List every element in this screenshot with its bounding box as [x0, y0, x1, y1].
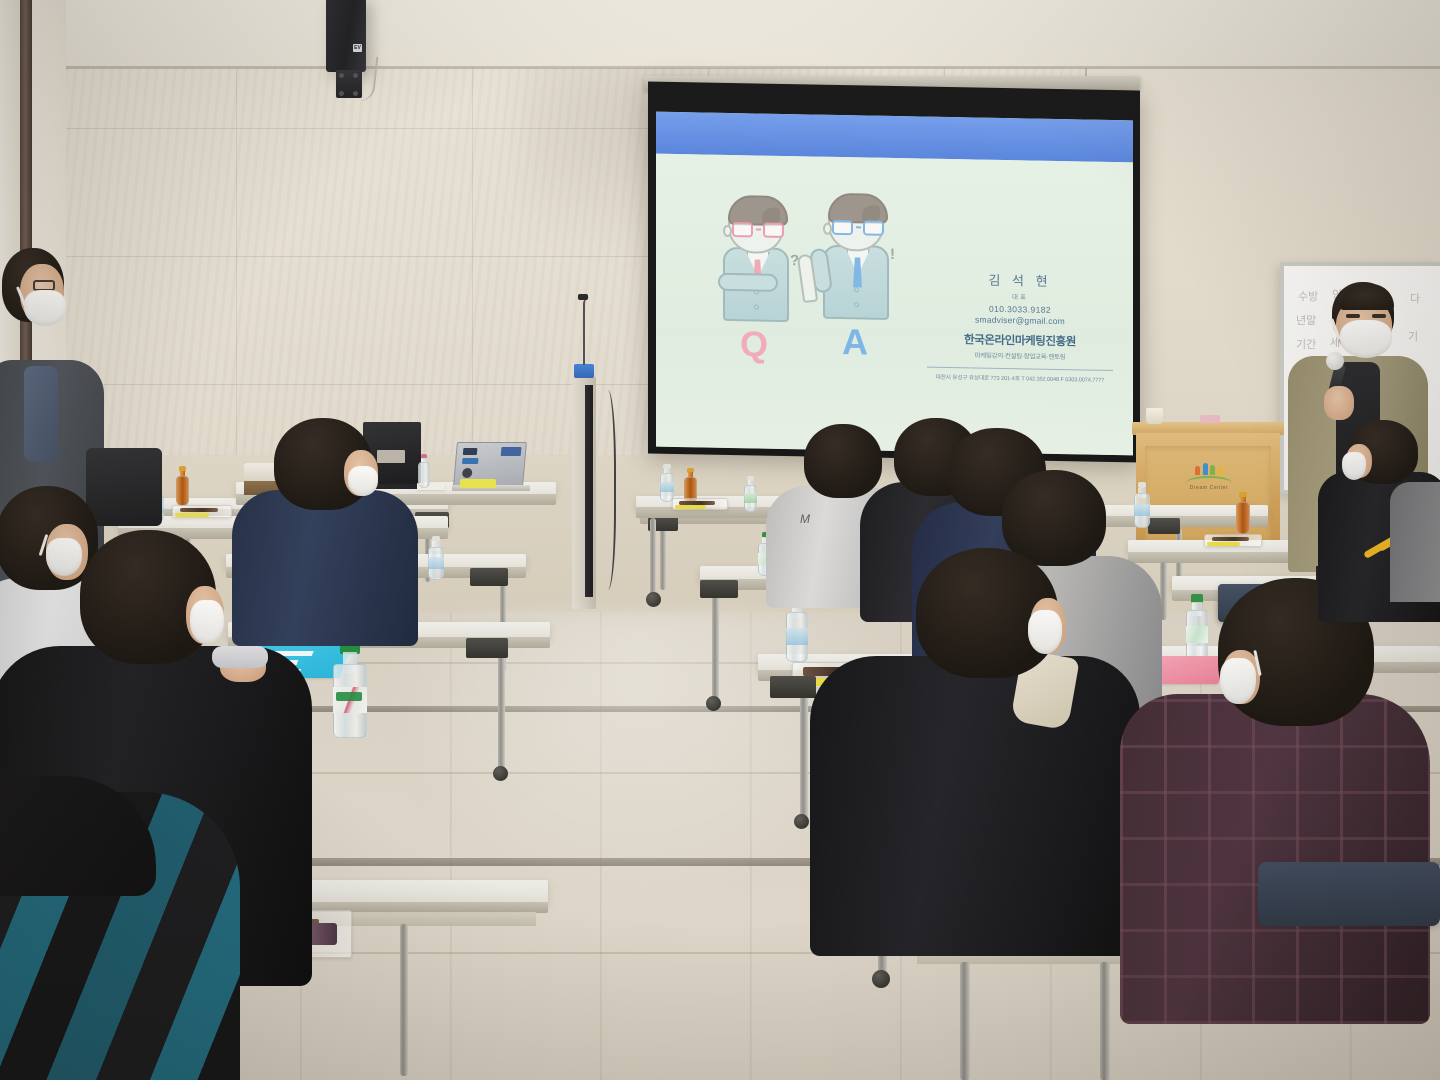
- cider-bottle[interactable]: [1186, 594, 1208, 660]
- table-bracket: [1148, 518, 1180, 534]
- seminar-room-photo: EV: [0, 0, 1440, 1080]
- contact-organization: 한국온라인마케팅진흥원: [925, 331, 1115, 350]
- bottle-label: [428, 557, 444, 568]
- pink-item-on-podium: [1200, 415, 1220, 423]
- a2-face-mask: [190, 600, 224, 644]
- q-figure-glasses: [732, 221, 784, 238]
- contact-name: 김 석 현: [925, 269, 1115, 291]
- table-bracket: [700, 580, 738, 598]
- a-figure-button-1: [854, 287, 859, 292]
- table-bracket: [770, 676, 816, 698]
- contact-organization-subtitle: 마케팅강의·컨설팅·창업교육·멘토링: [925, 349, 1115, 362]
- a10-plaid-shirt: [1120, 694, 1430, 1024]
- a-figure-head: [828, 197, 884, 252]
- podium-logo: Dream Center: [1178, 462, 1240, 491]
- snack-pack[interactable]: [672, 498, 728, 510]
- snack-pack[interactable]: [172, 505, 232, 518]
- a-figure-button-2: [854, 302, 859, 307]
- exclaim-mark: !: [890, 246, 895, 263]
- a9-face-mask: [1028, 610, 1062, 654]
- whiteboard-text-7: 다: [1410, 290, 1420, 306]
- q-figure-crossed-arms: [718, 273, 778, 292]
- table-caster: [646, 592, 661, 607]
- cider-brand-mark: [336, 692, 362, 701]
- a8-head: [1002, 470, 1106, 566]
- tea-bottle[interactable]: [176, 466, 189, 506]
- water-bottle[interactable]: [744, 476, 757, 512]
- yellow-box: [460, 479, 496, 488]
- podium-logo-text: Dream Center: [1178, 485, 1240, 491]
- slide-contact-block: 김 석 현 대표 010.3033.9182 smadviser@gmail.c…: [925, 269, 1115, 384]
- a-figure-ear: [823, 223, 832, 235]
- paper-cup-on-podium: [1146, 408, 1163, 424]
- a-figure-lens-left: [832, 219, 853, 234]
- a9-coat: [810, 656, 1140, 956]
- a11-face-mask: [1342, 452, 1366, 480]
- table-leg: [660, 524, 666, 590]
- water-bottle[interactable]: [418, 454, 430, 488]
- table-leg: [400, 924, 408, 1076]
- table-leg: [650, 518, 656, 598]
- presenter-hand: [1324, 386, 1354, 420]
- bottle-body: [1236, 502, 1250, 534]
- table-edge: [1128, 552, 1304, 563]
- a4-face-mask: [348, 466, 378, 496]
- cider-bottle[interactable]: [333, 640, 367, 738]
- snack-dark-item: [1212, 537, 1249, 541]
- podium-logo-figures: [1178, 462, 1240, 475]
- ceiling: [0, 0, 1440, 68]
- contact-email: smadviser@gmail.com: [925, 314, 1115, 327]
- logo-figure-yellow: [1218, 467, 1223, 475]
- a10-face-mask: [1220, 658, 1256, 704]
- table-bracket: [470, 568, 508, 586]
- table-caster: [493, 766, 508, 781]
- whiteboard-text-5: 기간: [1296, 336, 1316, 352]
- q-figure-button-2: [754, 304, 759, 309]
- bottle-body: [418, 462, 430, 488]
- contact-divider: [927, 367, 1113, 371]
- presenter-eye-pair: [1346, 314, 1360, 318]
- water-bottle[interactable]: [660, 464, 674, 502]
- chair-back-front-right[interactable]: [1258, 862, 1440, 926]
- gooseneck-mic-stand: [583, 297, 590, 365]
- q-figure-ear: [723, 225, 732, 237]
- moderator-face-mask: [24, 290, 66, 326]
- a1-face-mask: [46, 538, 82, 576]
- snack-yellow-wrapper: [1207, 542, 1239, 546]
- moderator-bag: [86, 448, 162, 526]
- speaker-cable-loop: [596, 390, 616, 590]
- table-leg: [960, 962, 970, 1080]
- bottle-label: [1186, 626, 1208, 643]
- laptop-sticker-2: [462, 458, 479, 464]
- gooseneck-mic-head: [578, 294, 588, 300]
- contact-role: 대표: [925, 290, 1115, 303]
- table-leg: [498, 648, 505, 770]
- a4-sweater: [232, 490, 418, 646]
- podium-logo-arc: [1186, 476, 1232, 483]
- whiteboard-text-8: 기: [1408, 328, 1418, 344]
- bottle-label: [786, 628, 808, 645]
- letter-q: Q: [740, 323, 769, 366]
- bottle-label: [744, 493, 757, 502]
- laptop-sticker-1: [463, 448, 478, 455]
- snack-dark-item: [679, 501, 715, 505]
- logo-figure-orange: [1195, 466, 1200, 475]
- wall-speaker: EV: [326, 0, 366, 72]
- a-figure-lens-right: [863, 220, 884, 235]
- projected-slide: ? Q ! A: [656, 112, 1133, 456]
- table-caster: [794, 814, 809, 829]
- table-caster: [706, 696, 721, 711]
- floor-speaker-grille: [585, 385, 593, 597]
- logo-figure-green: [1210, 465, 1215, 475]
- monitor-label: [377, 450, 405, 463]
- a5-head: [804, 424, 882, 498]
- q-figure-lens-right: [763, 222, 784, 237]
- bottle-label: [333, 687, 367, 712]
- table-leg: [712, 590, 719, 700]
- table-bracket: [466, 638, 508, 658]
- logo-figure-blue: [1203, 463, 1208, 475]
- speaker-brand-logo: EV: [353, 44, 362, 52]
- water-bottle[interactable]: [428, 536, 444, 580]
- a-figure-glasses: [832, 219, 884, 236]
- whiteboard-text-1: 수방: [1298, 288, 1318, 304]
- bottle-body: [176, 476, 189, 506]
- ceiling-seam: [0, 66, 1440, 69]
- whiteboard-text-3: 년말: [1296, 312, 1316, 328]
- tea-bottle[interactable]: [1236, 492, 1250, 534]
- laptop-sticker-3: [462, 468, 473, 478]
- a-figure-bridge: [856, 226, 861, 229]
- presenter-face-mask: [1340, 320, 1392, 358]
- blue-device-on-speaker: [574, 364, 594, 378]
- moderator-shirt: [24, 366, 58, 462]
- q-figure-head: [728, 199, 784, 254]
- snack-yellow-wrapper: [675, 505, 706, 508]
- a5-hoodie-print: M: [800, 512, 824, 526]
- snack-yellow-wrapper: [175, 513, 209, 517]
- letter-a: A: [842, 321, 869, 363]
- a2-sleeve-cuff: [212, 646, 268, 668]
- snack-dark-item: [180, 508, 218, 512]
- floor-speaker-column: [572, 377, 596, 609]
- bottle-label: [1134, 504, 1150, 516]
- a-figure-suit: [823, 245, 889, 320]
- snack-pack[interactable]: [1204, 534, 1262, 547]
- table-caster: [872, 970, 890, 988]
- person-edge-partial: [1390, 482, 1440, 602]
- q-figure-bridge: [756, 228, 761, 231]
- table-leg: [1100, 962, 1110, 1080]
- microphone-head: [1326, 352, 1344, 370]
- laptop-sticker-4: [501, 447, 522, 456]
- water-bottle[interactable]: [1134, 482, 1150, 528]
- table-leg: [800, 688, 808, 818]
- q-figure-lens-left: [732, 222, 753, 237]
- bottle-label: [660, 482, 674, 492]
